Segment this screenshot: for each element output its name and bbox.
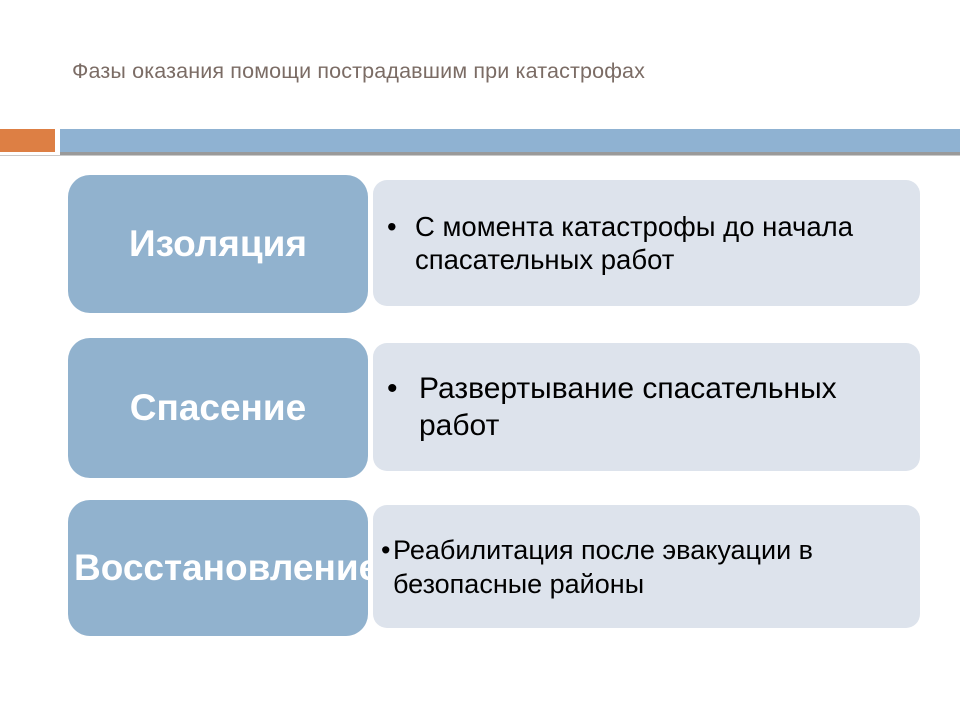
bullet-point-icon: •: [387, 210, 397, 243]
bullet-point-icon: •: [381, 533, 390, 567]
phase-content-box[interactable]: • Развертывание спасательных работ: [373, 343, 920, 471]
orange-accent-block: [0, 129, 55, 152]
phase-content-inner: • Реабилитация после эвакуации в безопас…: [381, 533, 912, 601]
slide-canvas: Фазы оказания помощи пострадавшим при ка…: [0, 0, 960, 720]
phase-content-text: Реабилитация после эвакуации в безопасны…: [393, 535, 813, 599]
phase-content-text: Развертывание спасательных работ: [419, 372, 837, 442]
title-divider: [0, 129, 960, 154]
page-title: Фазы оказания помощи пострадавшим при ка…: [72, 57, 902, 85]
phase-label-box[interactable]: Восстановление: [68, 500, 368, 636]
bullet-list-item: • С момента катастрофы до начала спасате…: [387, 210, 906, 276]
bullet-list-item: • Реабилитация после эвакуации в безопас…: [381, 533, 912, 601]
phase-content-box[interactable]: • С момента катастрофы до начала спасате…: [373, 180, 920, 306]
phase-content-text: С момента катастрофы до начала спасатель…: [415, 211, 853, 275]
phase-label-text: Изоляция: [74, 225, 362, 263]
divider-hairline: [0, 155, 960, 156]
phase-content-inner: • Развертывание спасательных работ: [387, 370, 906, 444]
phase-content-box[interactable]: • Реабилитация после эвакуации в безопас…: [373, 505, 920, 628]
phase-label-text: Спасение: [74, 389, 362, 427]
bullet-point-icon: •: [387, 370, 398, 407]
phase-content-inner: • С момента катастрофы до начала спасате…: [387, 210, 906, 276]
phase-label-box[interactable]: Спасение: [68, 338, 368, 478]
bullet-list-item: • Развертывание спасательных работ: [387, 370, 906, 444]
blue-accent-bar: [60, 129, 960, 152]
phase-label-box[interactable]: Изоляция: [68, 175, 368, 313]
phase-label-text: Восстановление: [74, 549, 362, 587]
